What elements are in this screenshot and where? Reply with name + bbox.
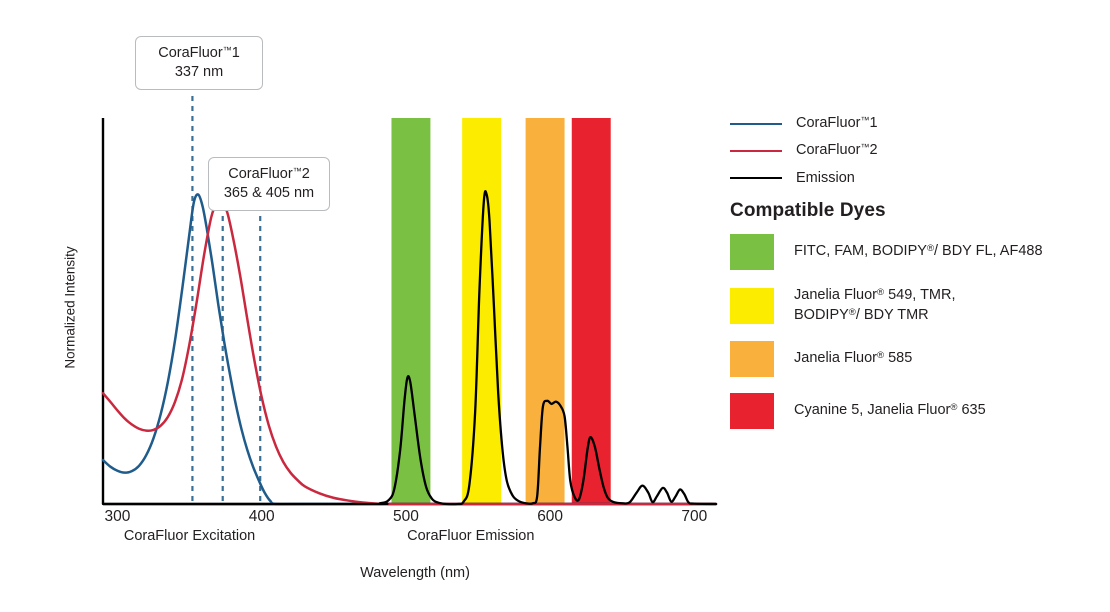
annotation-cf2-name: CoraFluor™2: [221, 165, 317, 184]
dye-label-line1: Janelia Fluor® 585: [794, 350, 912, 366]
x-tick-label-600: 600: [520, 508, 580, 526]
legend-line-swatch-icon: [730, 150, 782, 152]
legend-item-0[interactable]: CoraFluor™1: [730, 110, 1090, 137]
dye-label: FITC, FAM, BODIPY®/ BDY FL, AF488: [794, 242, 1043, 262]
dye-label-line1: Cyanine 5, Janelia Fluor® 635: [794, 402, 986, 418]
annotation-cf2-name-main: CoraFluor: [228, 166, 292, 182]
annotation-cf1-value: 337 nm: [148, 63, 250, 82]
x-tick-label-400: 400: [232, 508, 292, 526]
green-band: [391, 118, 430, 504]
x-axis-title: Wavelength (nm): [290, 565, 540, 581]
dye-label-line2: BODIPY®/ BDY TMR: [794, 306, 956, 326]
dye-row-1[interactable]: Janelia Fluor® 549, TMR,BODIPY®/ BDY TMR: [730, 286, 1100, 325]
dye-color-swatch: [730, 288, 774, 324]
legend-item-1[interactable]: CoraFluor™2: [730, 137, 1090, 164]
registered-icon: ®: [877, 350, 884, 361]
excitation-range-label: CoraFluor Excitation: [100, 528, 280, 544]
annotation-cf1: CoraFluor™1 337 nm: [135, 36, 263, 90]
dye-label: Janelia Fluor® 585: [794, 349, 912, 369]
dye-color-swatch: [730, 341, 774, 377]
registered-icon: ®: [849, 307, 856, 318]
annotation-cf2-name-suffix: 2: [302, 166, 310, 182]
dye-color-swatch: [730, 393, 774, 429]
legend-item-2[interactable]: Emission: [730, 164, 1090, 191]
dye-label-line1: Janelia Fluor® 549, TMR,: [794, 287, 956, 303]
trademark-icon: ™: [293, 166, 302, 176]
legend-item-label: CoraFluor™2: [796, 142, 878, 158]
legend-item-label: Emission: [796, 170, 855, 186]
red-band: [572, 118, 611, 504]
x-tick-label-300: 300: [87, 508, 147, 526]
figure-root: CoraFluor™1 337 nm CoraFluor™2 365 & 405…: [0, 0, 1110, 612]
dye-row-0[interactable]: FITC, FAM, BODIPY®/ BDY FL, AF488: [730, 234, 1100, 270]
dye-label: Janelia Fluor® 549, TMR,BODIPY®/ BDY TMR: [794, 286, 956, 325]
dye-label: Cyanine 5, Janelia Fluor® 635: [794, 401, 986, 421]
x-tick-label-700: 700: [664, 508, 724, 526]
annotation-cf1-name-main: CoraFluor: [158, 45, 222, 61]
orange-band: [526, 118, 565, 504]
dye-label-line1: FITC, FAM, BODIPY®/ BDY FL, AF488: [794, 243, 1043, 259]
dye-row-3[interactable]: Cyanine 5, Janelia Fluor® 635: [730, 393, 1100, 429]
series-legend: CoraFluor™1CoraFluor™2Emission: [730, 110, 1090, 191]
trademark-icon: ™: [223, 45, 232, 55]
emission-range-label: CoraFluor Emission: [381, 528, 561, 544]
legend-item-label: CoraFluor™1: [796, 115, 878, 131]
legend-line-swatch-icon: [730, 123, 782, 125]
compatible-dyes-list: FITC, FAM, BODIPY®/ BDY FL, AF488Janelia…: [730, 234, 1100, 445]
annotation-cf1-name-suffix: 1: [232, 45, 240, 61]
annotation-cf2: CoraFluor™2 365 & 405 nm: [208, 157, 330, 211]
dye-row-2[interactable]: Janelia Fluor® 585: [730, 341, 1100, 377]
annotation-cf1-name: CoraFluor™1: [148, 44, 250, 63]
x-tick-label-500: 500: [376, 508, 436, 526]
dye-color-swatch: [730, 234, 774, 270]
y-axis-title: Normalized Intensity: [63, 218, 78, 398]
registered-icon: ®: [877, 287, 884, 298]
legend-line-swatch-icon: [730, 177, 782, 179]
registered-icon: ®: [927, 243, 934, 254]
annotation-cf2-value: 365 & 405 nm: [221, 184, 317, 203]
compatible-dyes-title: Compatible Dyes: [730, 200, 886, 222]
